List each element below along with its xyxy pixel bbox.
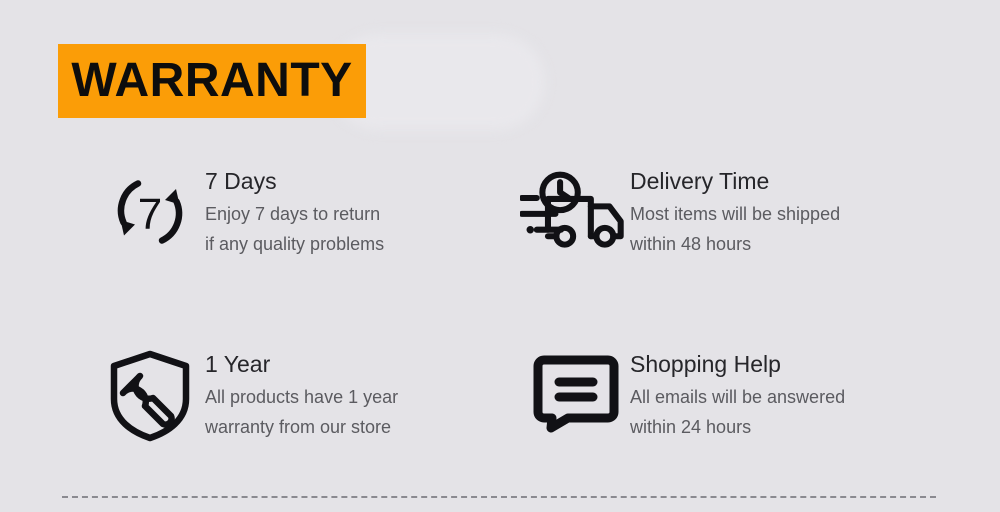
feature-line-1: Enjoy 7 days to return bbox=[205, 199, 384, 229]
feature-item-warranty-period: 1 Year All products have 1 year warranty… bbox=[95, 345, 398, 445]
feature-line-1: Most items will be shipped bbox=[630, 199, 840, 229]
feature-title: 1 Year bbox=[205, 349, 398, 379]
feature-title: Delivery Time bbox=[630, 166, 840, 196]
feature-text-shopping-help: Shopping Help All emails will be answere… bbox=[630, 345, 845, 442]
feature-text-warranty-period: 1 Year All products have 1 year warranty… bbox=[205, 345, 398, 442]
feature-item-return-policy: 7 7 Days Enjoy 7 days to return if any q… bbox=[95, 162, 384, 262]
feature-line-2: within 24 hours bbox=[630, 412, 845, 442]
chat-bubble-icon bbox=[520, 345, 630, 445]
warranty-banner: WARRANTY 7 7 Days Enjoy 7 days to return bbox=[0, 0, 1000, 512]
svg-text:7: 7 bbox=[138, 190, 162, 239]
bottom-dashed-divider bbox=[62, 496, 936, 498]
feature-item-delivery-time: Delivery Time Most items will be shipped… bbox=[520, 162, 840, 262]
feature-line-2: within 48 hours bbox=[630, 229, 840, 259]
warranty-title-badge: WARRANTY bbox=[58, 44, 366, 118]
shield-wrench-icon bbox=[95, 345, 205, 445]
fast-delivery-truck-clock-icon bbox=[520, 162, 630, 262]
feature-line-1: All products have 1 year bbox=[205, 382, 398, 412]
feature-title: 7 Days bbox=[205, 166, 384, 196]
feature-line-2: if any quality problems bbox=[205, 229, 384, 259]
return-arrows-7-icon: 7 bbox=[95, 162, 205, 262]
feature-text-delivery-time: Delivery Time Most items will be shipped… bbox=[630, 162, 840, 259]
feature-item-shopping-help: Shopping Help All emails will be answere… bbox=[520, 345, 845, 445]
feature-line-2: warranty from our store bbox=[205, 412, 398, 442]
feature-title: Shopping Help bbox=[630, 349, 845, 379]
feature-text-return-policy: 7 Days Enjoy 7 days to return if any qua… bbox=[205, 162, 384, 259]
page-title: WARRANTY bbox=[71, 57, 352, 105]
feature-line-1: All emails will be answered bbox=[630, 382, 845, 412]
